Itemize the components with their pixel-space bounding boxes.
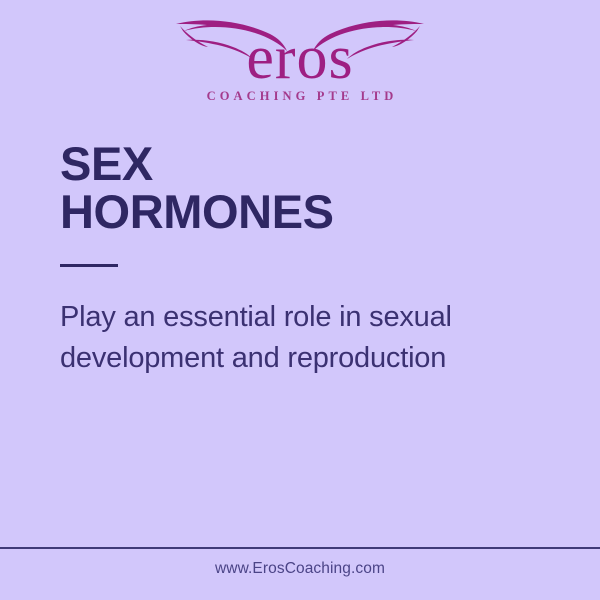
subtitle-line-1: Play an essential role in sexual: [60, 297, 560, 338]
logo-svg: eros COACHING PTE LTD: [170, 8, 430, 112]
footer-divider: [0, 547, 600, 549]
logo-tagline: COACHING PTE LTD: [207, 89, 398, 103]
footer-website-link[interactable]: www.ErosCoaching.com: [0, 560, 600, 578]
brand-logo[interactable]: eros COACHING PTE LTD: [0, 8, 600, 113]
subtitle: Play an essential role in sexual develop…: [60, 297, 560, 379]
subtitle-line-2: development and reproduction: [60, 338, 560, 379]
page-title-line-1: SEX: [60, 140, 334, 188]
page-title-line-2: HORMONES: [60, 188, 334, 236]
page-title: SEX HORMONES: [60, 140, 334, 236]
title-divider: [60, 264, 118, 267]
logo-wordmark: eros: [246, 24, 353, 92]
promo-card: eros COACHING PTE LTD SEX HORMONES Play …: [0, 0, 600, 600]
